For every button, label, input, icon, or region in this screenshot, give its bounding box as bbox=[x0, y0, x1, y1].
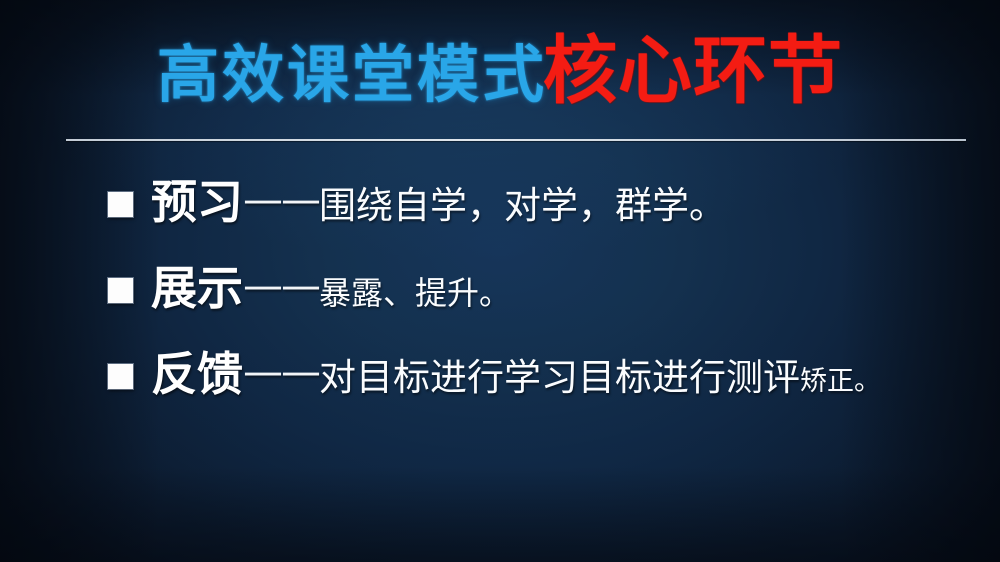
list-item: 展示——暴露、提升。 bbox=[108, 258, 988, 318]
list-item-text: 展示——暴露、提升。 bbox=[151, 265, 511, 311]
square-bullet-icon bbox=[108, 278, 133, 303]
list-item-separator: —— bbox=[243, 177, 319, 223]
list-item-description: 暴露、提升。 bbox=[319, 274, 511, 312]
list-item-description: 对目标进行学习目标进行测评 bbox=[319, 356, 800, 399]
list-item-keyword: 展示 bbox=[151, 261, 243, 315]
square-bullet-icon bbox=[108, 192, 133, 217]
list-item-text: 反馈——对目标进行学习目标进行测评矫正。 bbox=[151, 351, 881, 397]
list-item-description-tail: 矫正。 bbox=[800, 366, 881, 397]
title-accent-text: 核心环节 bbox=[543, 28, 843, 114]
list-item-text: 预习——围绕自学，对学，群学。 bbox=[151, 179, 726, 225]
presentation-slide: 高效课堂模式核心环节 预习——围绕自学，对学，群学。 展示——暴露、提升。 bbox=[0, 0, 1000, 562]
slide-content: 高效课堂模式核心环节 预习——围绕自学，对学，群学。 展示——暴露、提升。 bbox=[0, 0, 1000, 562]
list-item-description: 围绕自学，对学，群学。 bbox=[319, 184, 726, 227]
list-item: 反馈——对目标进行学习目标进行测评矫正。 bbox=[108, 344, 988, 404]
list-item: 预习——围绕自学，对学，群学。 bbox=[108, 172, 988, 232]
list-item-keyword: 反馈 bbox=[151, 347, 243, 401]
list-item-separator: —— bbox=[243, 349, 319, 395]
bullet-list: 预习——围绕自学，对学，群学。 展示——暴露、提升。 反馈——对目标进行学习目标… bbox=[108, 172, 988, 429]
square-bullet-icon bbox=[108, 364, 133, 389]
list-item-separator: —— bbox=[243, 263, 319, 309]
slide-title: 高效课堂模式核心环节 bbox=[0, 34, 1000, 108]
list-item-keyword: 预习 bbox=[151, 175, 243, 229]
title-divider-line bbox=[66, 139, 966, 141]
title-primary-text: 高效课堂模式 bbox=[157, 38, 547, 111]
